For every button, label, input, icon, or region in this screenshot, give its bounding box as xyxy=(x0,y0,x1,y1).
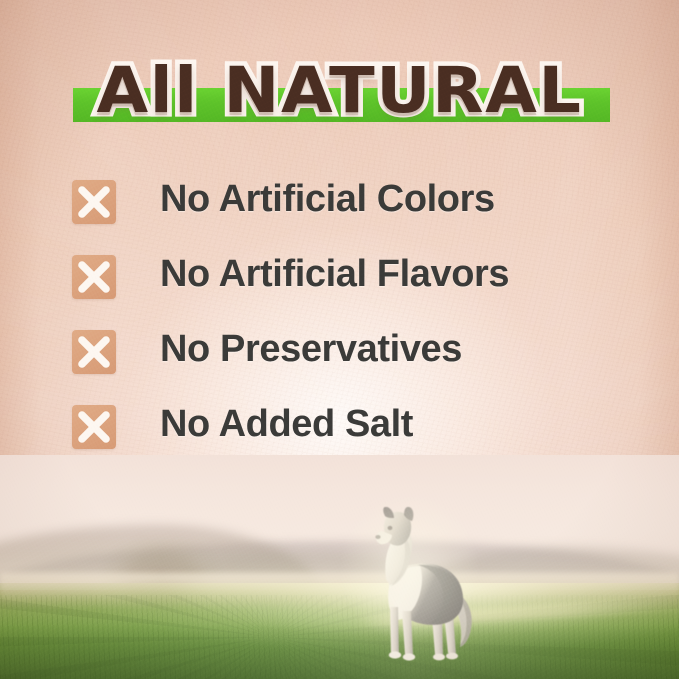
header-banner: All NATURAL xyxy=(0,48,679,134)
feature-label: No Artificial Flavors xyxy=(160,251,509,297)
feature-row: No Preservatives xyxy=(72,326,632,401)
feature-row: No Artificial Colors xyxy=(72,176,632,251)
feature-row: No Artificial Flavors xyxy=(72,251,632,326)
feature-label: No Preservatives xyxy=(160,326,462,372)
x-mark-icon xyxy=(72,255,116,299)
page-title: All NATURAL xyxy=(0,48,679,134)
feature-label: No Artificial Colors xyxy=(160,176,495,222)
feature-label: No Added Salt xyxy=(160,401,413,447)
x-mark-icon xyxy=(72,330,116,374)
feature-row: No Added Salt xyxy=(72,401,632,476)
x-mark-icon xyxy=(72,405,116,449)
x-mark-icon xyxy=(72,180,116,224)
all-natural-poster: All NATURAL No Artificial Colors xyxy=(0,0,679,679)
feature-list: No Artificial Colors No Artificial Flavo… xyxy=(72,176,632,476)
